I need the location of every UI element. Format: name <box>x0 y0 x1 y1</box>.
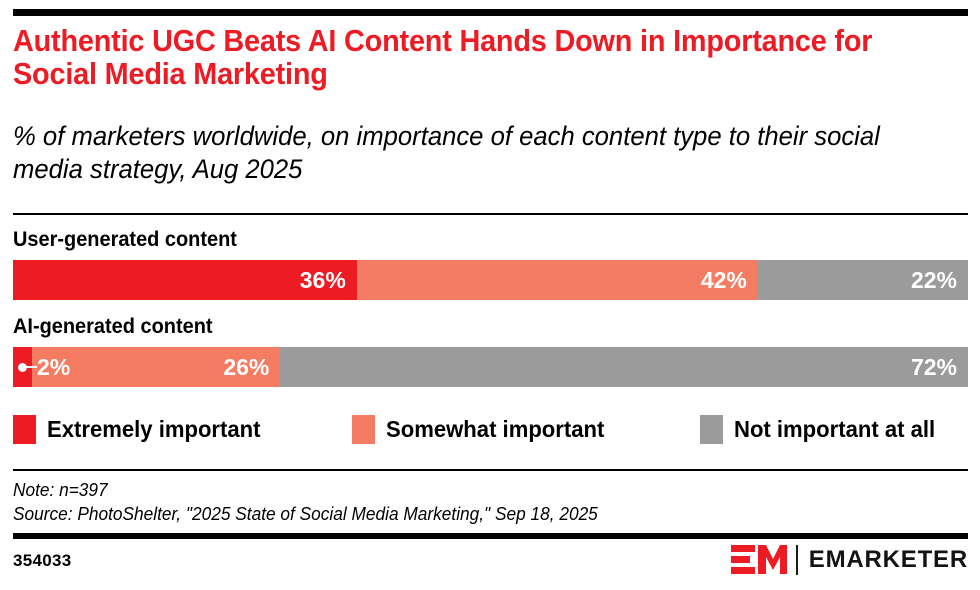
category-label-ai-generated-content: AI-generated content <box>13 316 213 338</box>
legend-label: Not important at all <box>734 415 935 444</box>
logo-divider <box>796 545 798 575</box>
bar-segment-not-important-ugc[interactable]: 22% <box>758 260 968 300</box>
source-text: Source: PhotoShelter, "2025 State of Soc… <box>13 502 930 526</box>
bar-segment-somewhat-important-ugc[interactable]: 42% <box>357 260 758 300</box>
legend-swatch-icon <box>700 415 723 444</box>
chart-canvas: Authentic UGC Beats AI Content Hands Dow… <box>0 0 980 590</box>
bar-segment-not-important-ai[interactable]: 72% <box>280 347 968 387</box>
chart-id: 354033 <box>13 551 72 571</box>
stacked-bar-ai-generated-content: 2% 26% 72% <box>13 347 968 387</box>
bar-value-label: 2% <box>37 356 70 379</box>
bar-segment-extremely-important-ugc[interactable]: 36% <box>13 260 357 300</box>
footer-divider <box>13 533 968 539</box>
legend-label: Somewhat important <box>386 415 604 444</box>
bar-value-label: 72% <box>911 356 968 379</box>
legend-swatch-icon <box>352 415 375 444</box>
legend-item-somewhat-important[interactable]: Somewhat important <box>352 415 613 444</box>
bar-value-label: 36% <box>300 269 357 292</box>
chart-legend: Extremely important Somewhat important N… <box>0 415 980 449</box>
note-divider <box>13 469 968 471</box>
em-monogram-icon <box>731 544 787 576</box>
legend-item-extremely-important[interactable]: Extremely important <box>13 415 269 444</box>
legend-swatch-icon <box>13 415 36 444</box>
category-label-user-generated-content: User-generated content <box>13 229 237 251</box>
legend-item-not-important-at-all[interactable]: Not important at all <box>700 415 944 444</box>
bar-value-label: 42% <box>701 269 758 292</box>
legend-label: Extremely important <box>47 415 261 444</box>
footnotes: Note: n=397 Source: PhotoShelter, "2025 … <box>13 478 968 526</box>
brand-wordmark: EMARKETER <box>809 548 968 572</box>
bar-value-label: 26% <box>223 356 280 379</box>
bar-value-label: 22% <box>911 269 968 292</box>
emarketer-logo[interactable]: EMARKETER <box>731 543 968 577</box>
callout-dot-icon <box>18 363 27 372</box>
bar-segment-extremely-important-ai[interactable]: 2% <box>13 347 32 387</box>
stacked-bar-user-generated-content: 36% 42% 22% <box>13 260 968 300</box>
note-text: Note: n=397 <box>13 478 930 502</box>
